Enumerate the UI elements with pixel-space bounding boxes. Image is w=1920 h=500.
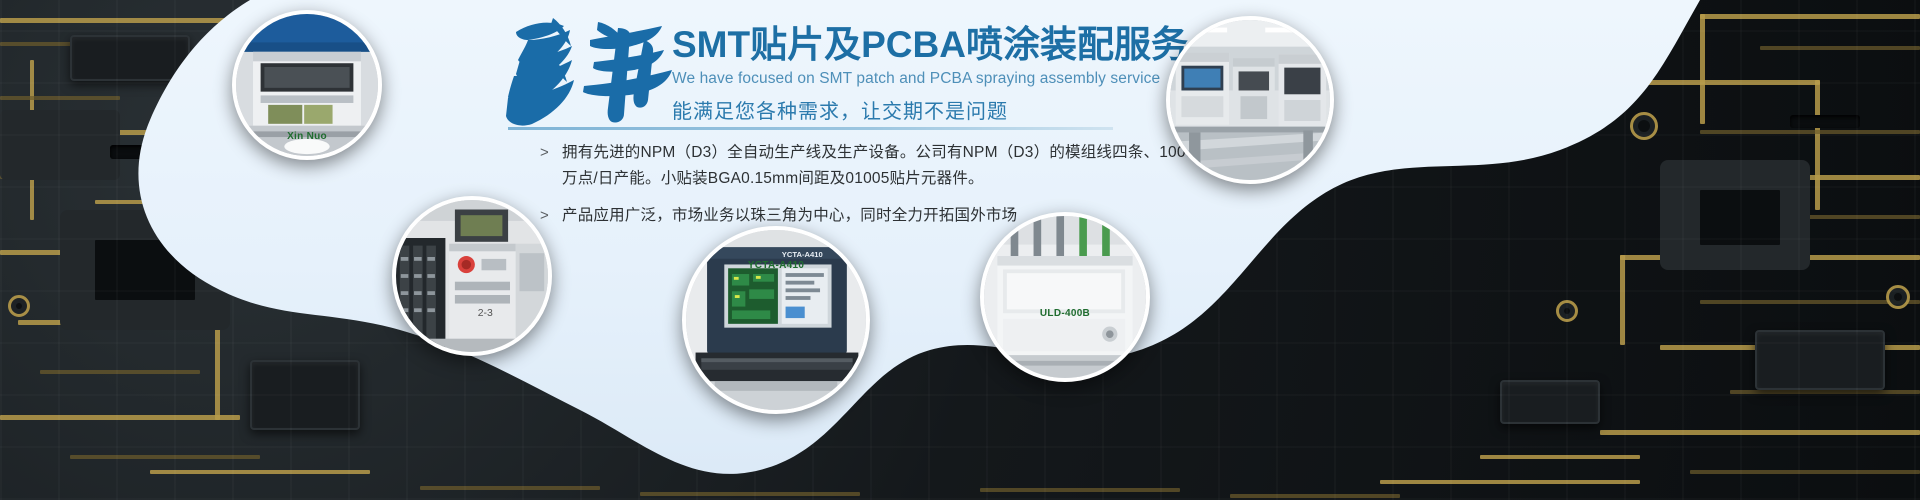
photo-caption: Xin Nuo: [236, 131, 378, 142]
title-block: SMT贴片及PCBA喷涂装配服务 We have focused on SMT …: [672, 26, 1232, 124]
year-calligraphy-mark: [498, 10, 678, 130]
production-line-image: [1170, 20, 1330, 180]
photo-smt-printer-machine: Xin Nuo: [232, 10, 382, 160]
divider: [508, 127, 1113, 130]
chip-mounter-image: 2-3: [396, 200, 548, 352]
photo-uld-loader-machine: ULD-400B: [980, 212, 1150, 382]
uld-loader-image: [984, 216, 1146, 378]
photo-caption: YCTA-A410: [686, 260, 866, 271]
list-item: > 拥有先进的NPM（D3）全自动生产线及生产设备。公司有NPM（D3）的模组线…: [540, 140, 1200, 192]
aoi-inspection-image: YCTA-A410: [686, 230, 866, 410]
page-title: SMT贴片及PCBA喷涂装配服务: [672, 26, 1232, 65]
english-subtitle: We have focused on SMT patch and PCBA sp…: [672, 70, 1232, 88]
smt-service-banner: SMT贴片及PCBA喷涂装配服务 We have focused on SMT …: [0, 0, 1920, 500]
photo-chip-mounter-machine: 2-3: [392, 196, 552, 356]
chevron-right-icon: >: [540, 140, 562, 166]
list-item-text: 产品应用广泛，市场业务以珠三角为中心，同时全力开拓国外市场: [562, 203, 1017, 229]
list-item-text: 拥有先进的NPM（D3）全自动生产线及生产设备。公司有NPM（D3）的模组线四条…: [562, 140, 1200, 192]
svg-text:2-3: 2-3: [478, 308, 493, 319]
svg-text:YCTA-A410: YCTA-A410: [782, 250, 823, 259]
photo-production-line-overview: [1166, 16, 1334, 184]
photo-caption: ULD-400B: [984, 308, 1146, 319]
photo-aoi-inspection-machine: YCTA-A410: [682, 226, 870, 414]
chinese-subtitle: 能满足您各种需求，让交期不是问题: [672, 95, 1232, 124]
